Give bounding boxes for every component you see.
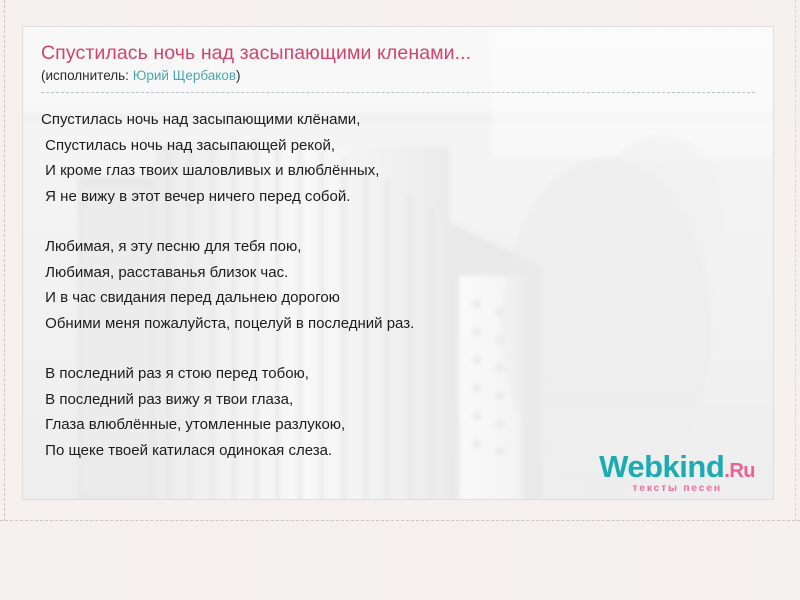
lyrics-line: Спустилась ночь над засыпающими клёнами, (41, 107, 755, 133)
logo-word-tld: .Ru (724, 460, 755, 482)
frame-guide-left (4, 0, 5, 521)
logo-word-main: Webkind (599, 449, 724, 484)
lyrics-content-card: Спустилась ночь над засыпающими кленами.… (22, 26, 774, 500)
lyrics-line: Любимая, я эту песню для тебя пою, (41, 234, 755, 260)
lyrics-line: И в час свидания перед дальнею дорогою (41, 285, 755, 311)
lyrics-line: Спустилась ночь над засыпающей рекой, (41, 133, 755, 159)
performer-prefix-label: (исполнитель: (41, 68, 133, 83)
lyrics-line: Я не вижу в этот вечер ничего перед собо… (41, 184, 755, 210)
lyrics-text: Спустилась ночь над засыпающими клёнами,… (41, 93, 755, 463)
lyrics-verse: Любимая, я эту песню для тебя пою, Любим… (41, 234, 755, 336)
lyrics-line: В последний раз вижу я твои глаза, (41, 387, 755, 413)
card-body: Спустилась ночь над засыпающими кленами.… (23, 27, 773, 463)
frame-guide-bottom (0, 520, 800, 521)
lyrics-line: Обними меня пожалуйста, поцелуй в послед… (41, 311, 755, 337)
performer-suffix-label: ) (236, 68, 241, 83)
performer-line: (исполнитель: Юрий Щербаков) (41, 67, 755, 92)
frame-guide-right (795, 0, 796, 521)
page-title: Спустилась ночь над засыпающими кленами.… (41, 41, 755, 65)
site-logo[interactable]: Webkind.Ru тексты песен (599, 451, 755, 494)
lyrics-line: Глаза влюблённые, утомленные разлукою, (41, 412, 755, 438)
lyrics-line: И кроме глаз твоих шаловливых и влюблённ… (41, 158, 755, 184)
lyrics-line: Любимая, расставанья близок час. (41, 260, 755, 286)
lyrics-verse: Спустилась ночь над засыпающими клёнами,… (41, 107, 755, 209)
lyrics-line: В последний раз я стою перед тобою, (41, 361, 755, 387)
performer-link[interactable]: Юрий Щербаков (133, 68, 236, 83)
